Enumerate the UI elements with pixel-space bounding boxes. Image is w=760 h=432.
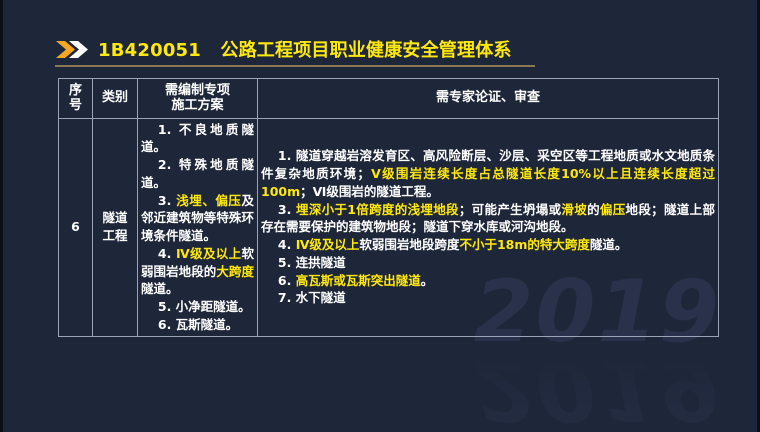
review-item: 3. 埋深小于1倍跨度的浅埋地段；可能产生坍塌或滑坡的偏压地段；隧道上部存在需要…	[261, 201, 715, 237]
plan-item: 2. 特殊地质隧道。	[141, 156, 254, 192]
column-header-no-line2: 号	[62, 98, 89, 113]
review-item: 7. 水下隧道	[261, 289, 715, 307]
plan-run: 隧道。	[141, 281, 179, 296]
review-item: 1. 隧道穿越岩溶发育区、高风险断层、沙层、采空区等工程地质或水文地质条件复杂地…	[261, 147, 715, 200]
plan-run: 6. 瓦斯隧道。	[158, 317, 238, 332]
table-row: 6 隧道 工程 1. 不良地质隧道。2. 特殊地质隧道。3. 浅埋、偏压及邻近建…	[59, 118, 719, 336]
section-title: 公路工程项目职业健康安全管理体系	[220, 40, 511, 61]
cell-row-number: 6	[59, 118, 93, 336]
review-run: 软弱围岩地段跨度	[359, 237, 459, 252]
column-header-plan-line2: 施工方案	[141, 98, 254, 113]
review-run: ；Ⅵ级围岩的隧道工程。	[300, 184, 439, 199]
plan-item-list: 1. 不良地质隧道。2. 特殊地质隧道。3. 浅埋、偏压及邻近建筑物等特殊环境条…	[141, 121, 254, 334]
column-header-plan-line1: 需编制专项	[141, 83, 254, 98]
slide-title-block: 1B420051 公路工程项目职业健康安全管理体系	[55, 36, 535, 67]
review-run: Ⅳ级及以上	[296, 237, 360, 252]
column-header-no-line1: 序	[62, 83, 89, 98]
review-run: 6.	[278, 273, 296, 288]
review-run: 埋深小于1倍跨度的浅埋地段	[296, 202, 459, 217]
review-item: 6. 高瓦斯或瓦斯突出隧道。	[261, 272, 715, 290]
review-run: 。	[421, 273, 434, 288]
cell-plan-list: 1. 不良地质隧道。2. 特殊地质隧道。3. 浅埋、偏压及邻近建筑物等特殊环境条…	[138, 118, 258, 336]
watermark-reflection: 2019	[474, 350, 721, 426]
column-header-category-line1: 类别	[96, 89, 134, 107]
double-chevron-right-icon	[55, 40, 89, 59]
column-header-category: 类别	[93, 79, 138, 119]
column-header-plan: 需编制专项 施工方案	[138, 79, 258, 119]
review-run: 的	[587, 202, 600, 217]
plan-run: 2. 特殊地质隧道。	[141, 157, 254, 190]
plan-item: 5. 小净距隧道。	[141, 298, 254, 316]
review-run: 5. 连拱隧道	[278, 255, 346, 270]
plan-item: 4. Ⅳ级及以上软弱围岩地段的大跨度隧道。	[141, 245, 254, 298]
review-item: 4. Ⅳ级及以上软弱围岩地段跨度不小于18m的特大跨度隧道。	[261, 236, 715, 254]
page-title: 1B420051 公路工程项目职业健康安全管理体系	[98, 36, 512, 62]
cell-review-list: 1. 隧道穿越岩溶发育区、高风险断层、沙层、采空区等工程地质或水文地质条件复杂地…	[258, 118, 719, 336]
table-header-row: 序 号 类别 需编制专项 施工方案 需专家论证、审查	[59, 79, 719, 119]
cell-category-line1: 隧道	[96, 209, 134, 227]
column-header-review-line1: 需专家论证、审查	[261, 89, 715, 107]
cell-category: 隧道 工程	[93, 118, 138, 336]
column-header-no: 序 号	[59, 79, 93, 119]
plan-run: 大跨度	[216, 264, 254, 279]
plan-run: 4.	[158, 246, 176, 261]
review-item: 5. 连拱隧道	[261, 254, 715, 272]
column-header-review: 需专家论证、审查	[258, 79, 719, 119]
plan-item: 6. 瓦斯隧道。	[141, 316, 254, 334]
section-code: 1B420051	[98, 40, 201, 61]
review-run: 滑坡	[561, 202, 587, 217]
plan-item: 3. 浅埋、偏压及邻近建筑物等特殊环境条件隧道。	[141, 192, 254, 245]
plan-run: 浅埋、偏压	[176, 193, 241, 208]
table-body: 6 隧道 工程 1. 不良地质隧道。2. 特殊地质隧道。3. 浅埋、偏压及邻近建…	[59, 118, 719, 336]
review-run: 7. 水下隧道	[278, 290, 346, 305]
review-run: 4.	[278, 237, 296, 252]
review-run: ；可能产生坍塌或	[459, 202, 562, 217]
review-run: 3.	[278, 202, 296, 217]
plan-run: 1. 不良地质隧道。	[141, 122, 254, 155]
plan-run: Ⅳ级及以上	[176, 246, 241, 261]
requirements-table: 序 号 类别 需编制专项 施工方案 需专家论证、审查	[58, 78, 719, 337]
cell-category-line2: 工程	[96, 227, 134, 245]
slide-canvas: 2019 2019 1B420051 公路工程项目职业健康安全管理体系 序	[0, 0, 760, 432]
plan-run: 5. 小净距隧道。	[158, 299, 251, 314]
title-underline	[55, 65, 535, 67]
review-run: 不小于18m的特大跨度	[459, 237, 589, 252]
plan-item: 1. 不良地质隧道。	[141, 121, 254, 157]
review-run: 偏压	[600, 202, 626, 217]
plan-run: 3.	[158, 193, 176, 208]
review-run: 高瓦斯或瓦斯突出隧道	[296, 273, 421, 288]
review-run: 隧道。	[590, 237, 628, 252]
review-item-list: 1. 隧道穿越岩溶发育区、高风险断层、沙层、采空区等工程地质或水文地质条件复杂地…	[261, 147, 715, 307]
